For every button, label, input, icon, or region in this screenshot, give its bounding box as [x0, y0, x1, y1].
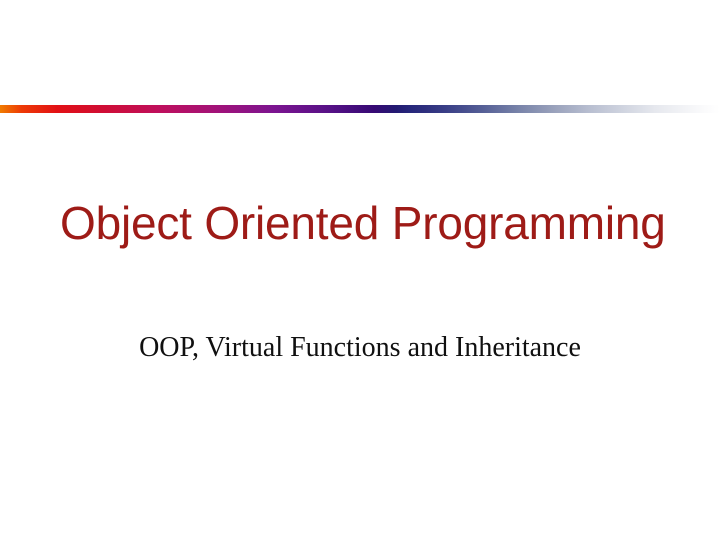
page-subtitle: OOP, Virtual Functions and Inheritance: [139, 332, 581, 364]
title-placeholder[interactable]: Object Oriented Programming: [60, 192, 664, 254]
page-title: Object Oriented Programming: [60, 199, 666, 247]
gradient-rule-decoration: [0, 105, 720, 113]
subtitle-placeholder[interactable]: OOP, Virtual Functions and Inheritance: [60, 328, 660, 368]
presentation-slide: Object Oriented Programming OOP, Virtual…: [0, 0, 720, 540]
